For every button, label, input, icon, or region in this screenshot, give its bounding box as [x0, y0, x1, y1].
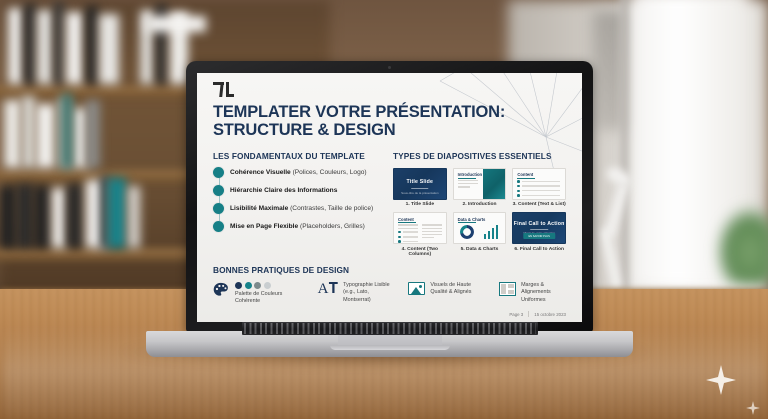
best-practices-section: BONNES PRATIQUES DE DESIGN [213, 265, 566, 306]
text-line [422, 234, 442, 235]
thumbnail-subtitle: Sous-titre de la présentation [401, 191, 439, 195]
thumbnail-text-lines [458, 180, 479, 190]
text-line [458, 180, 479, 181]
practice-label: Palette de Couleurs Cohérente [235, 291, 282, 306]
thumbnail-accent-block [483, 169, 506, 199]
text-line [422, 237, 434, 238]
text-line [422, 228, 442, 229]
page-title-line-1: TEMPLATER VOTRE PRÉSENTATION: [213, 103, 505, 121]
practice-visuals: Visuels de Haute Qualité & Alignés [408, 282, 485, 297]
swatch-gray [254, 282, 261, 289]
bar [484, 234, 486, 239]
practice-label: Typographie Lisible (e.g., Lato, Montser… [343, 282, 394, 304]
laptop-base [146, 331, 633, 357]
fundamentals-section: LES FONDAMENTAUX DU TEMPLATE Cohérence V… [213, 151, 379, 257]
thumbnail-underline [458, 222, 476, 223]
line [403, 241, 418, 242]
practice-line-1: Marges & [521, 282, 544, 288]
thumbnail-title: Title Slide [407, 179, 434, 185]
thumbnail-underline [458, 178, 476, 179]
laptop-keyboard[interactable] [242, 322, 538, 335]
thumbnail-caption: 6. Final Call to Action [512, 247, 566, 252]
slide-thumbnail-grid: Title Slide Sous-titre de la présentatio… [393, 168, 566, 257]
thumbnail-title: Final Call to Action [514, 221, 565, 227]
thumbnail-caption: 5. Data & Charts [453, 247, 507, 252]
laptop-lid: TEMPLATER VOTRE PRÉSENTATION: STRUCTURE … [186, 61, 593, 332]
thumbnail-cta-button[interactable]: EN SAVOIR PLUS [523, 233, 554, 239]
bullet-line [517, 190, 560, 193]
thumbnail-rule [530, 229, 548, 230]
page-number: Page 3 [509, 312, 523, 317]
text-line [458, 183, 479, 184]
bullet-dot-icon [213, 185, 224, 196]
text-line [398, 228, 418, 229]
slide-thumbnail[interactable]: Title Slide Sous-titre de la présentatio… [393, 168, 447, 208]
practice-note: (e.g., Lato, Montserrat) [343, 289, 371, 302]
bullet-line [517, 199, 560, 200]
donut-chart-icon [460, 225, 474, 239]
bullet-dot-icon [213, 221, 224, 232]
grid-left-cell [501, 284, 506, 293]
text-line [458, 186, 470, 187]
bullet-dot-icon [517, 180, 520, 183]
slide-thumbnail[interactable]: Data & Charts [453, 212, 507, 257]
list-item: Lisibilité Maximale (Contrastes, Taille … [213, 204, 379, 214]
layout-grid-icon [499, 282, 516, 296]
line [522, 181, 560, 182]
palette-swatches [235, 282, 282, 289]
list-item-text: Mise en Page Flexible (Placeholders, Gri… [230, 222, 365, 231]
thumbnail-preview-title-slide[interactable]: Title Slide Sous-titre de la présentatio… [393, 168, 447, 200]
practice-line-2: Alignements [521, 289, 551, 295]
column-right [422, 224, 442, 244]
column-left [398, 224, 418, 244]
thumbnail-title: Content [517, 172, 533, 177]
thumbnail-underline [517, 178, 535, 179]
swatch-teal [245, 282, 252, 289]
page-title-line-2: STRUCTURE & DESIGN [213, 121, 396, 139]
bullet-dot-icon [517, 190, 520, 193]
thumbnail-title: Content [398, 217, 414, 222]
practice-text-block: Palette de Couleurs Cohérente [235, 282, 282, 306]
thumbnail-title: Data & Charts [458, 217, 486, 222]
logo-mark-l-foot [226, 94, 234, 97]
slide-thumbnail[interactable]: Introduction 2. Introduction [453, 168, 507, 208]
line [522, 195, 560, 196]
bullet-line [398, 240, 418, 243]
thumbnail-caption: 1. Title Slide [393, 202, 447, 207]
bullet-dot-icon [517, 199, 520, 200]
list-item-rest: (Placeholders, Grilles) [300, 223, 365, 230]
page-title: TEMPLATER VOTRE PRÉSENTATION: STRUCTURE … [213, 103, 566, 140]
thumbnail-preview-two-columns[interactable]: Content [393, 212, 447, 244]
bullet-dot-icon [398, 231, 401, 234]
keyboard-keys[interactable] [244, 323, 536, 334]
bullet-dot-icon [517, 194, 520, 197]
practice-color-palette: Palette de Couleurs Cohérente [213, 282, 304, 306]
practice-line-1: Typographie Lisible [343, 282, 389, 288]
best-practices-row: Palette de Couleurs Cohérente A𝐓 Typogra… [213, 282, 566, 306]
bullet-dot-icon [517, 185, 520, 188]
brand-logo [213, 82, 233, 98]
laptop-base-lip [330, 345, 450, 350]
palette-icon [213, 282, 230, 303]
thumbnail-rule [411, 188, 429, 189]
practice-label: Visuels de Haute Qualité & Alignés [430, 282, 471, 297]
practice-margins: Marges & Alignements Uniformes [499, 282, 566, 304]
thumbnail-caption: 2. Introduction [453, 202, 507, 207]
swatch-navy [235, 282, 242, 289]
list-item-text: Hiérarchie Claire des Informations [230, 186, 337, 195]
line [403, 236, 418, 237]
line [522, 185, 560, 186]
line [522, 190, 560, 191]
practice-line-1: Visuels de Haute [430, 282, 471, 288]
bullet-line [398, 231, 418, 234]
practice-line-2: Cohérente [235, 298, 260, 304]
thumbnail-title: Introduction [458, 172, 482, 177]
grid-right-cells [508, 284, 514, 293]
slide-thumbnail[interactable]: Content [393, 212, 447, 257]
bullet-dot-icon [213, 167, 224, 178]
image-icon [408, 282, 425, 295]
laptop-device: TEMPLATER VOTRE PRÉSENTATION: STRUCTURE … [0, 0, 768, 419]
list-item-rest: (Polices, Couleurs, Logo) [293, 169, 367, 176]
bullet-line [517, 194, 560, 197]
list-item: Hiérarchie Claire des Informations [213, 186, 379, 196]
thumbnail-caption: 3. Content (Text & List) [512, 202, 566, 207]
text-line [398, 224, 418, 225]
bullet-line [517, 185, 560, 188]
swatch-light-gray [264, 282, 271, 289]
thumbnail-caption: 4. Content (Two Columns) [393, 247, 447, 257]
bullet-line [517, 180, 560, 183]
logo-mark-t-stem [219, 82, 224, 97]
list-item-text: Cohérence Visuelle (Polices, Couleurs, L… [230, 168, 367, 177]
footer-divider [528, 311, 529, 317]
thumbnail-preview-introduction[interactable]: Introduction [453, 168, 507, 200]
text-line [422, 231, 442, 232]
bullet-dot-icon [213, 203, 224, 214]
thumbnail-preview-data-charts[interactable]: Data & Charts [453, 212, 507, 244]
list-item-text: Lisibilité Maximale (Contrastes, Taille … [230, 204, 373, 213]
list-item-strong: Cohérence Visuelle [230, 169, 293, 176]
slide-footer: Page 3 15 octobre 2023 [509, 311, 566, 317]
slide-date: 15 octobre 2023 [534, 312, 566, 317]
thumbnail-two-columns [398, 224, 442, 244]
thumbnail-underline [398, 222, 416, 223]
fundamentals-list: Cohérence Visuelle (Polices, Couleurs, L… [213, 168, 379, 232]
presentation-slide: TEMPLATER VOTRE PRÉSENTATION: STRUCTURE … [197, 73, 582, 322]
fundamentals-heading: LES FONDAMENTAUX DU TEMPLATE [213, 151, 379, 161]
text-line [422, 224, 442, 225]
bar [488, 231, 490, 239]
bar-chart-icon [484, 225, 498, 239]
slide-thumbnail[interactable]: Final Call to Action Merci de votre atte… [512, 212, 566, 257]
list-item-strong: Lisibilité Maximale [230, 205, 290, 212]
list-item-strong: Mise en Page Flexible [230, 223, 300, 230]
practice-line-1: Palette de Couleurs [235, 291, 282, 297]
list-item: Mise en Page Flexible (Placeholders, Gri… [213, 222, 379, 232]
thumbnail-bullet-lines [517, 180, 560, 200]
bullet-dot-icon [398, 240, 401, 243]
practice-typography: A𝐓 Typographie Lisible (e.g., Lato, Mont… [318, 282, 395, 304]
grid-cell [508, 284, 514, 288]
practice-line-2: Qualité & Alignés [430, 289, 471, 295]
bar [492, 228, 494, 239]
list-item-strong: Hiérarchie Claire des Informations [230, 187, 337, 194]
thumbnail-preview-call-to-action[interactable]: Final Call to Action Merci de votre atte… [512, 212, 566, 244]
bar [496, 225, 498, 239]
bullet-dot-icon [398, 236, 401, 239]
grid-cell [508, 290, 514, 294]
best-practices-heading: BONNES PRATIQUES DE DESIGN [213, 265, 566, 275]
thumbnail-preview-content-list[interactable]: Content [512, 168, 566, 200]
practice-line-3: Uniformes [521, 297, 546, 303]
list-item-rest: (Contrastes, Taille de police) [290, 205, 373, 212]
list-item: Cohérence Visuelle (Polices, Couleurs, L… [213, 168, 379, 178]
webcam-icon [388, 66, 391, 69]
practice-label: Marges & Alignements Uniformes [521, 282, 551, 304]
laptop-screen: TEMPLATER VOTRE PRÉSENTATION: STRUCTURE … [197, 73, 582, 322]
line [403, 231, 418, 232]
bullet-line [398, 236, 418, 239]
typography-icon: A𝐓 [318, 282, 339, 297]
slide-thumbnail[interactable]: Content [512, 168, 566, 208]
